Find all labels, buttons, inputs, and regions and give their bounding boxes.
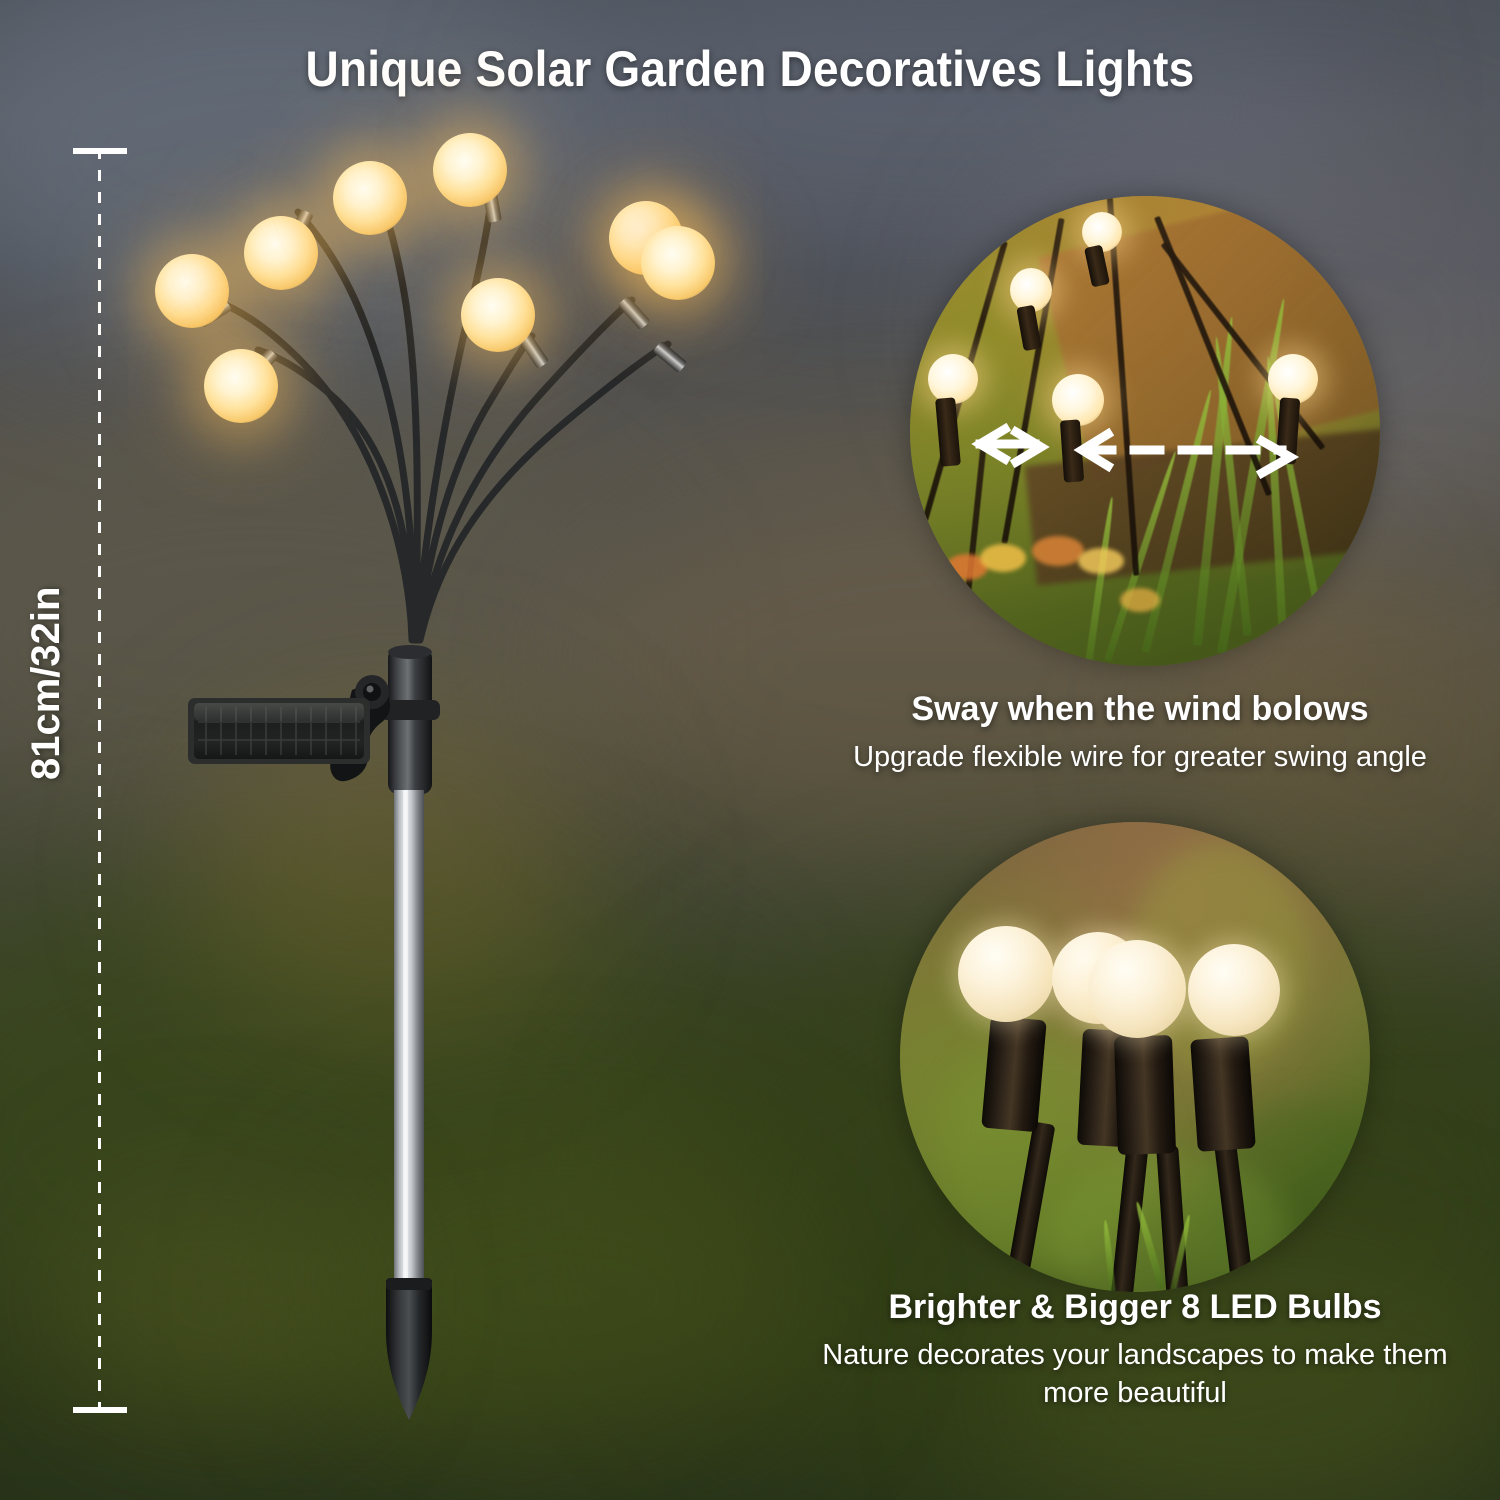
led-bulb [433,133,507,207]
led-bulb [641,226,715,300]
feature-subtitle: Nature decorates your landscapes to make… [805,1337,1465,1412]
feature-caption-sway: Sway when the wind bolows Upgrade flexib… [810,690,1470,777]
feature-title: Sway when the wind bolows [810,690,1470,729]
led-bulb [461,278,535,352]
led-bulb [204,349,278,423]
product-infographic: Unique Solar Garden Decoratives Lights 8… [0,0,1500,1500]
swing-arrow-annotations [910,196,1380,666]
feature-caption-bulbs: Brighter & Bigger 8 LED Bulbs Nature dec… [805,1288,1465,1412]
feature-title: Brighter & Bigger 8 LED Bulbs [805,1288,1465,1327]
feature-image-sway [910,196,1380,666]
led-bulb [244,216,318,290]
feature-subtitle: Upgrade flexible wire for greater swing … [810,739,1470,777]
led-bulb [333,161,407,235]
led-bulb [155,254,229,328]
product-image [0,0,760,1500]
feature-image-bulbs [900,822,1370,1292]
